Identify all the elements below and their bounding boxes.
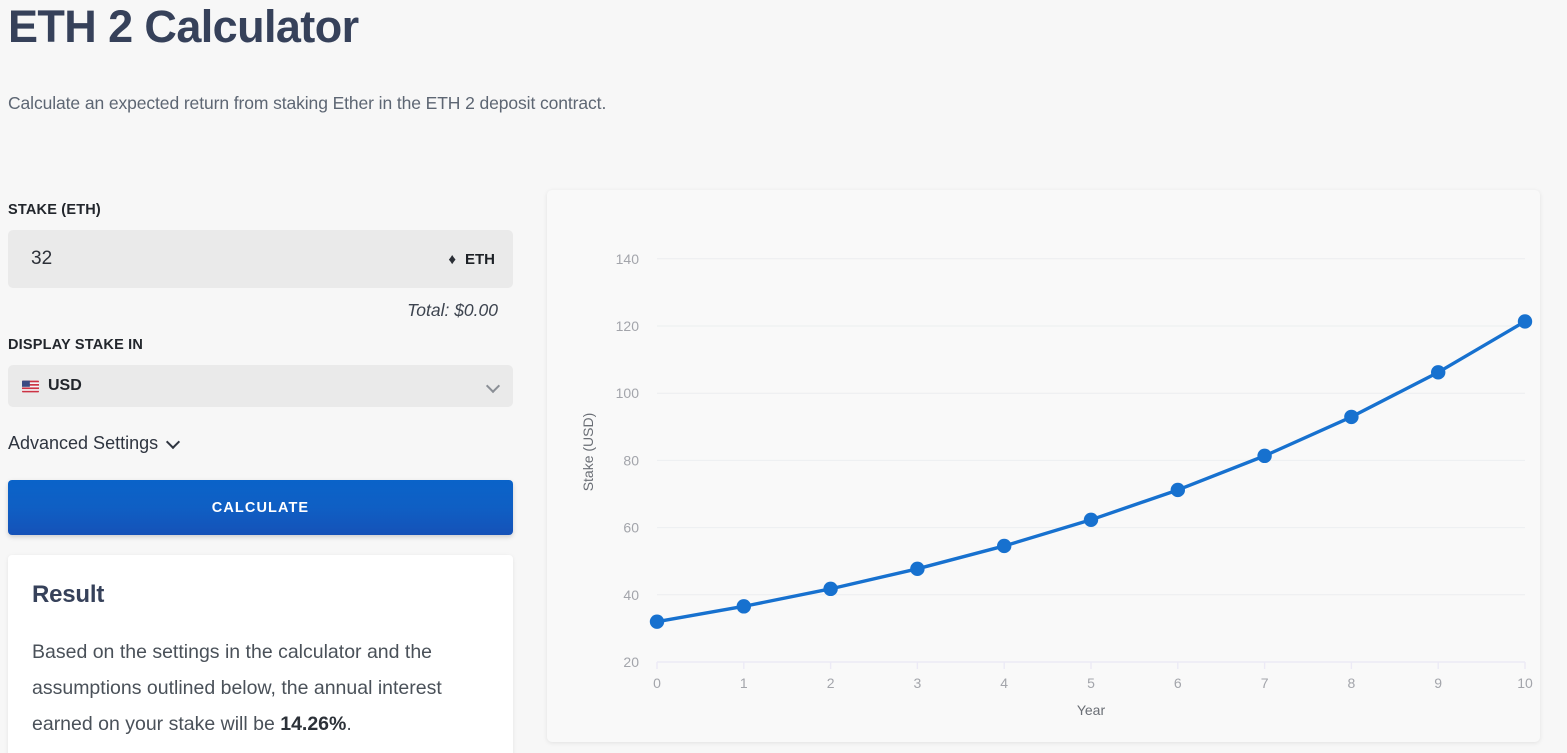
content-area: STAKE (ETH) 32 ♦ ETH Total: $0.00 DISPLA… — [0, 190, 1567, 753]
currency-select[interactable]: USD — [8, 365, 513, 407]
chart-x-tick: 5 — [1087, 675, 1095, 691]
result-description: Based on the settings in the calculator … — [32, 634, 489, 742]
chart-y-tick: 20 — [623, 654, 639, 670]
stake-total-value: Total: $0.00 — [0, 288, 521, 321]
currency-field-label: DISPLAY STAKE IN — [0, 321, 521, 353]
chart-x-tick: 6 — [1174, 675, 1182, 691]
chart-y-tick: 120 — [616, 318, 640, 334]
chart-x-tick: 9 — [1434, 675, 1442, 691]
chart-x-tick: 10 — [1517, 675, 1533, 691]
chart-y-tick: 140 — [616, 251, 640, 267]
chart-series-line — [657, 321, 1525, 621]
result-card: Result Based on the settings in the calc… — [8, 555, 513, 753]
result-text-before: Based on the settings in the calculator … — [32, 641, 442, 735]
calculator-form: STAKE (ETH) 32 ♦ ETH Total: $0.00 DISPLA… — [0, 190, 521, 753]
calculate-button[interactable]: CALCULATE — [8, 480, 513, 535]
chart-data-point[interactable]: 1: 36.56 — [737, 599, 751, 613]
chart-data-point[interactable]: 6: 71.2 — [1171, 483, 1185, 497]
chart-x-axis-title: Year — [1077, 702, 1106, 718]
chart-data-point[interactable]: 5: 62.32 — [1084, 513, 1098, 527]
chart-y-tick-labels: 20406080100120140 — [616, 251, 640, 670]
chart-x-tick-labels: 012345678910 — [653, 675, 1533, 691]
page-header: ETH 2 Calculator Calculate an expected r… — [0, 0, 1567, 114]
us-flag-icon — [22, 380, 39, 393]
result-heading: Result — [32, 581, 489, 609]
chart-x-tick: 1 — [740, 675, 748, 691]
stake-growth-chart-card: 20406080100120140 012345678910 Year Stak… — [547, 190, 1540, 742]
stake-unit-label: ETH — [465, 251, 495, 268]
currency-select-value: USD — [48, 377, 487, 395]
advanced-settings-toggle[interactable]: Advanced Settings — [8, 433, 521, 454]
chart-x-tick: 2 — [827, 675, 835, 691]
chevron-down-icon — [487, 380, 499, 392]
chart-data-point[interactable]: 10: 121.35 — [1518, 314, 1532, 328]
chart-y-axis-title: Stake (USD) — [580, 413, 596, 492]
stake-field-label: STAKE (ETH) — [0, 190, 521, 218]
chart-x-tick: 3 — [914, 675, 922, 691]
page-title: ETH 2 Calculator — [8, 0, 1567, 52]
chart-data-point[interactable]: 8: 92.95 — [1344, 410, 1358, 424]
stake-input[interactable]: 32 ♦ ETH — [8, 230, 513, 288]
chart-data-point[interactable]: 3: 47.73 — [910, 562, 924, 576]
chart-y-tick: 80 — [623, 452, 639, 468]
page-subtitle: Calculate an expected return from stakin… — [8, 92, 1567, 115]
chart-x-tick: 8 — [1348, 675, 1356, 691]
chevron-down-icon — [167, 437, 180, 450]
chart-x-tick: 4 — [1000, 675, 1008, 691]
chart-data-point[interactable]: 0: 32 — [650, 614, 664, 628]
stake-growth-chart: 20406080100120140 012345678910 Year Stak… — [547, 190, 1540, 742]
chart-data-point[interactable]: 7: 81.35 — [1257, 449, 1271, 463]
chart-data-point[interactable]: 9: 106.21 — [1431, 365, 1445, 379]
chart-x-tick: 0 — [653, 675, 661, 691]
stake-input-value: 32 — [31, 248, 448, 270]
stake-unit-group: ♦ ETH — [448, 251, 495, 268]
chart-y-tick: 60 — [623, 520, 639, 536]
result-rate-value: 14.26% — [280, 713, 346, 735]
chart-data-point[interactable]: 2: 41.77 — [823, 582, 837, 596]
chart-data-point[interactable]: 4: 54.54 — [997, 539, 1011, 553]
chart-x-tick: 7 — [1261, 675, 1269, 691]
chart-y-tick: 40 — [623, 587, 639, 603]
advanced-settings-label: Advanced Settings — [8, 433, 158, 454]
ethereum-icon: ♦ — [448, 252, 456, 267]
result-text-after: . — [346, 713, 351, 735]
chart-y-tick: 100 — [616, 385, 640, 401]
chart-gridlines — [657, 259, 1525, 595]
chart-data-points: 0: 321: 36.562: 41.773: 47.734: 54.545: … — [650, 314, 1532, 629]
chart-axes — [657, 662, 1525, 669]
